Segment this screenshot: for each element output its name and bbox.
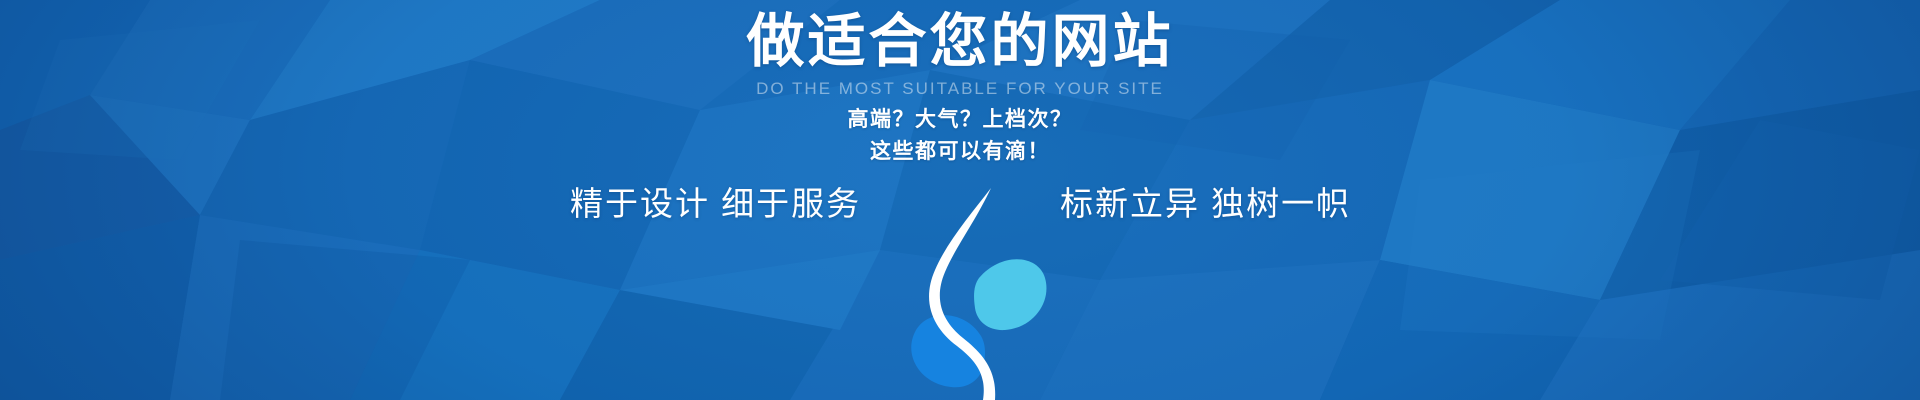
leaf-top-shape bbox=[974, 259, 1046, 330]
english-subtitle: DO THE MOST SUITABLE FOR YOUR SITE bbox=[0, 78, 1920, 100]
tagline-line-2: 这些都可以有滴！ bbox=[0, 136, 1920, 168]
title-block: 做适合您的网站 DO THE MOST SUITABLE FOR YOUR SI… bbox=[0, 8, 1920, 101]
hero-banner: 做适合您的网站 DO THE MOST SUITABLE FOR YOUR SI… bbox=[0, 0, 1920, 400]
tagline-block: 高端？大气？上档次？ 这些都可以有滴！ bbox=[0, 104, 1920, 168]
tagline-line-1: 高端？大气？上档次？ bbox=[0, 104, 1920, 136]
slogan-left: 精于设计 细于服务 bbox=[570, 180, 861, 228]
slogan-right: 标新立异 独树一帜 bbox=[1060, 180, 1351, 228]
leaf-swirl-logo-icon bbox=[905, 186, 1065, 400]
page-title: 做适合您的网站 bbox=[0, 8, 1920, 76]
